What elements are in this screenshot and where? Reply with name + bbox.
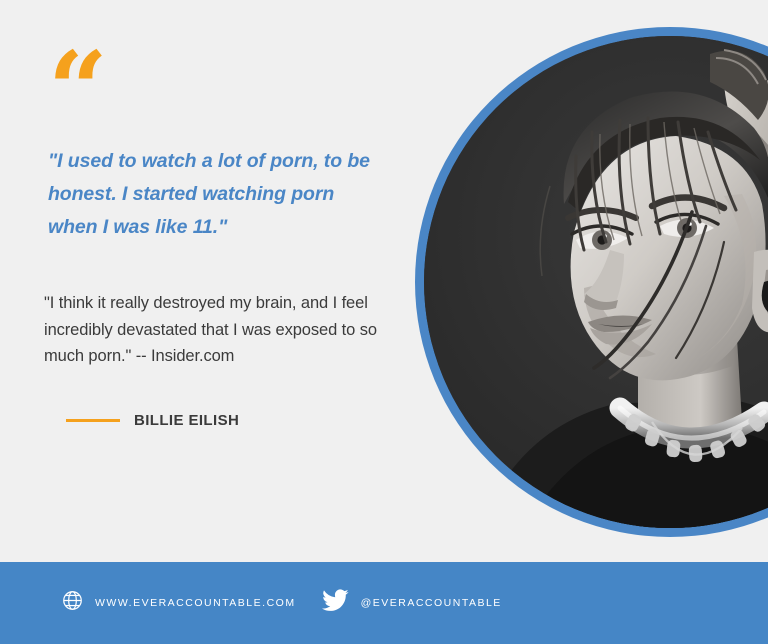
attribution-rule <box>66 419 120 422</box>
quote-content-column: “ "I used to watch a lot of porn, to be … <box>0 0 420 562</box>
attribution: BILLIE EILISH <box>66 412 239 429</box>
footer-twitter-label: @EVERACCOUNTABLE <box>361 597 502 609</box>
attribution-name: BILLIE EILISH <box>134 412 239 429</box>
quotation-mark-icon: “ <box>48 38 106 142</box>
quote-graphic-card: “ "I used to watch a lot of porn, to be … <box>0 0 768 644</box>
twitter-icon <box>322 589 349 617</box>
footer-website-label: WWW.EVERACCOUNTABLE.COM <box>95 597 296 609</box>
footer-twitter[interactable]: @EVERACCOUNTABLE <box>322 589 502 617</box>
footer-website[interactable]: WWW.EVERACCOUNTABLE.COM <box>62 590 296 616</box>
portrait-photo <box>424 36 768 528</box>
quote-body-text: "I think it really destroyed my brain, a… <box>44 290 384 370</box>
globe-icon <box>62 590 83 616</box>
portrait-circle-frame <box>415 27 768 537</box>
quote-headline: "I used to watch a lot of porn, to be ho… <box>48 145 388 243</box>
footer-bar: WWW.EVERACCOUNTABLE.COM @EVERACCOUNTABLE <box>0 562 768 644</box>
